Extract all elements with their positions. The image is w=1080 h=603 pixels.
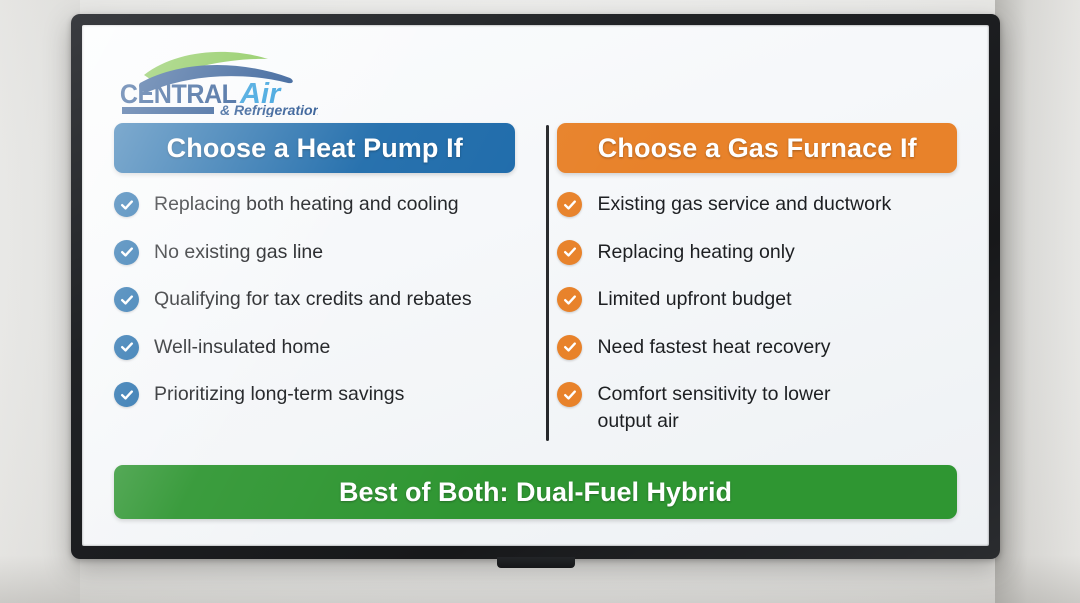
column-header-gas-furnace: Choose a Gas Furnace If: [557, 123, 957, 173]
check-circle-icon: [114, 335, 139, 360]
bullet-list-heat-pump: Replacing both heating and cooling No ex…: [114, 191, 515, 408]
check-circle-icon: [557, 382, 582, 407]
list-item-label: Comfort sensitivity to lower output air: [597, 381, 872, 434]
list-item-label: Replacing heating only: [597, 239, 794, 266]
central-air-logo: CENTRAL Air & Refrigeration: [118, 45, 318, 117]
list-item-label: Well-insulated home: [154, 334, 330, 361]
check-circle-icon: [114, 382, 139, 407]
list-item: Limited upfront budget: [557, 286, 957, 313]
check-circle-icon: [557, 335, 582, 360]
presentation-slide: CENTRAL Air & Refrigeration Choose a He: [82, 25, 989, 546]
wall-scene: CENTRAL Air & Refrigeration Choose a He: [0, 0, 1080, 603]
column-heat-pump: Choose a Heat Pump If Replacing both hea…: [114, 123, 535, 434]
list-item-label: Need fastest heat recovery: [597, 334, 830, 361]
footer-banner-dual-fuel: Best of Both: Dual-Fuel Hybrid: [114, 465, 957, 519]
check-circle-icon: [557, 287, 582, 312]
television-frame: CENTRAL Air & Refrigeration Choose a He: [71, 14, 1000, 559]
list-item: Existing gas service and ductwork: [557, 191, 957, 218]
wall-shadow-left: [0, 0, 80, 603]
list-item: Well-insulated home: [114, 334, 515, 361]
column-divider: [546, 125, 549, 441]
list-item-label: Qualifying for tax credits and rebates: [154, 286, 472, 313]
list-item: Qualifying for tax credits and rebates: [114, 286, 515, 313]
bullet-list-gas-furnace: Existing gas service and ductwork Replac…: [557, 191, 957, 434]
list-item: Need fastest heat recovery: [557, 334, 957, 361]
list-item-label: Limited upfront budget: [597, 286, 791, 313]
logo-tagline: & Refrigeration: [220, 102, 318, 117]
check-circle-icon: [114, 240, 139, 265]
column-gas-furnace: Choose a Gas Furnace If Existing gas ser…: [535, 123, 957, 434]
column-header-heat-pump: Choose a Heat Pump If: [114, 123, 515, 173]
list-item: Replacing heating only: [557, 239, 957, 266]
list-item: Prioritizing long-term savings: [114, 381, 515, 408]
wall-shadow-right: [995, 0, 1080, 603]
list-item-label: Existing gas service and ductwork: [597, 191, 891, 218]
logo-rule: [122, 107, 214, 114]
tv-screen: CENTRAL Air & Refrigeration Choose a He: [82, 25, 989, 546]
list-item-label: No existing gas line: [154, 239, 323, 266]
list-item-label: Replacing both heating and cooling: [154, 191, 459, 218]
list-item: Comfort sensitivity to lower output air: [557, 381, 957, 434]
tv-stand-nub: [497, 557, 575, 568]
list-item: Replacing both heating and cooling: [114, 191, 515, 218]
list-item: No existing gas line: [114, 239, 515, 266]
check-circle-icon: [557, 192, 582, 217]
check-circle-icon: [114, 192, 139, 217]
comparison-columns: Choose a Heat Pump If Replacing both hea…: [114, 123, 957, 434]
check-circle-icon: [114, 287, 139, 312]
list-item-label: Prioritizing long-term savings: [154, 381, 404, 408]
check-circle-icon: [557, 240, 582, 265]
